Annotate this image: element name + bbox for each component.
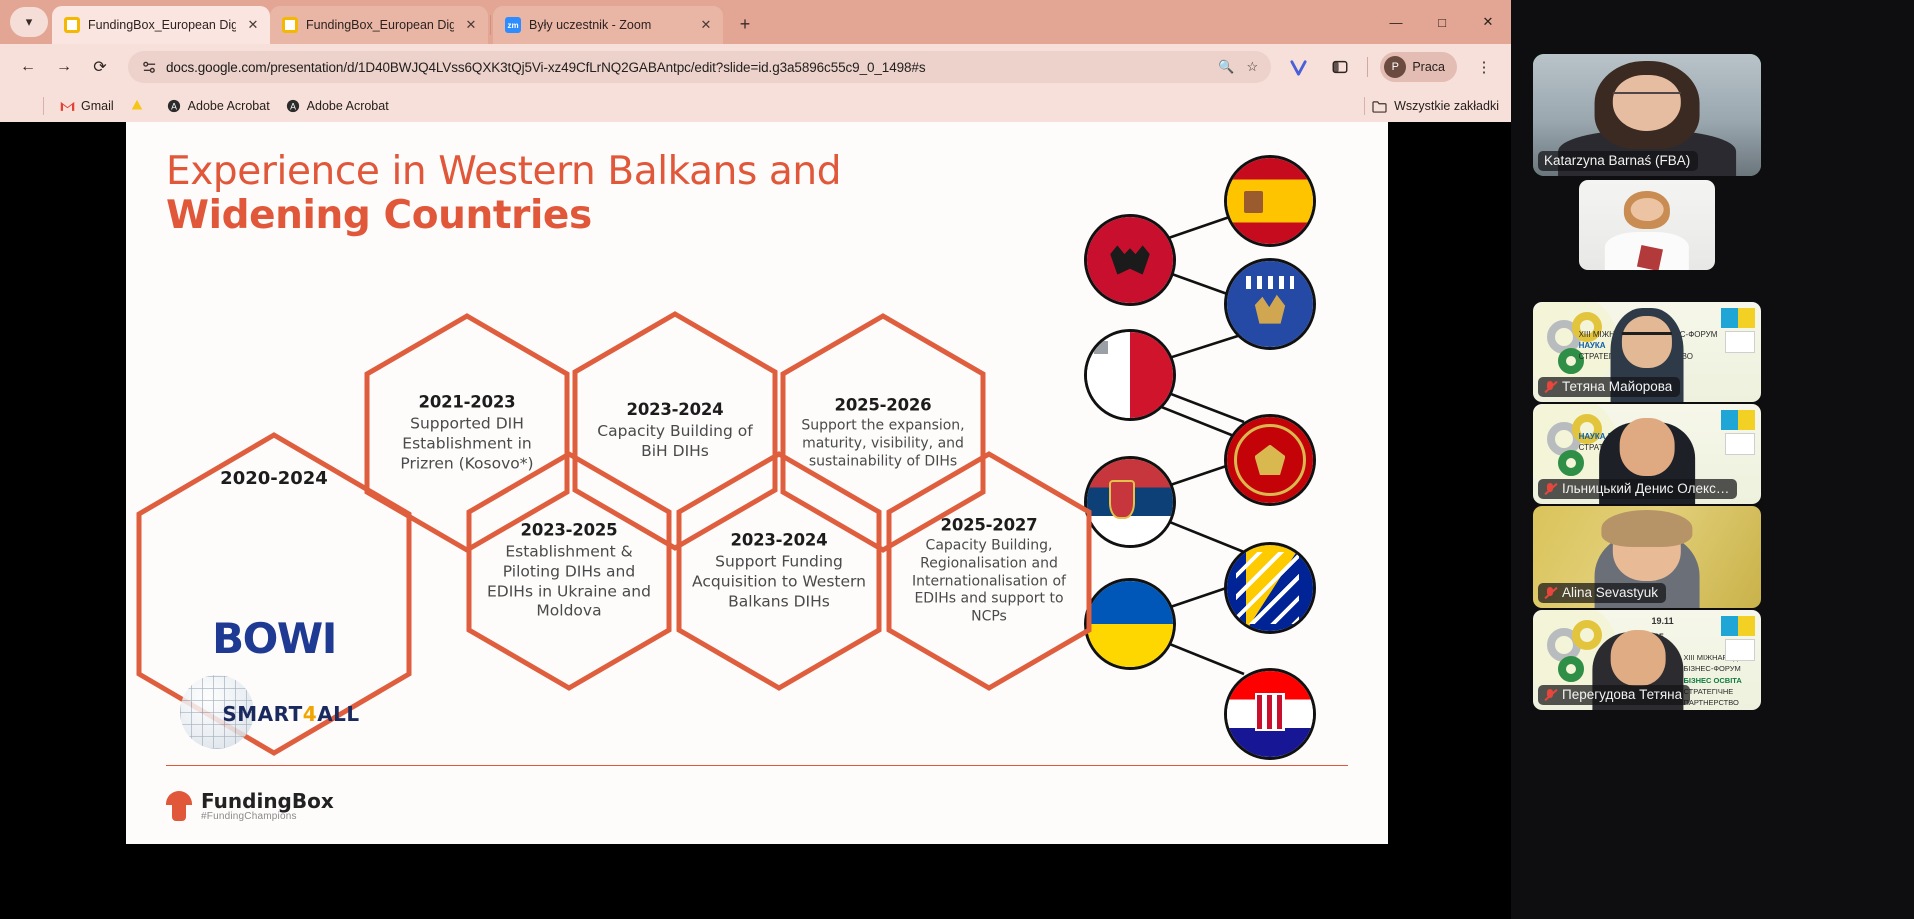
hex-text: 2023-2025 Establishment & Piloting DIHs … <box>481 520 657 621</box>
video-feed <box>1579 180 1715 270</box>
keep-icon <box>130 99 145 114</box>
slides-icon <box>282 17 298 33</box>
participant-name-bar: Ільницький Денис Олекс… <box>1538 479 1737 499</box>
hex-year: 2021-2023 <box>379 392 555 411</box>
participant-name-bar: Katarzyna Barnaś (FBA) <box>1538 151 1698 171</box>
profile-label: Praca <box>1412 60 1445 74</box>
bookmark-star-icon[interactable]: ☆ <box>1243 58 1261 76</box>
participant-tile-5[interactable]: 19.11 25 XIII МІЖНАРОДНИЙ БІЗНЕС-ФОРУМ Б… <box>1533 610 1761 710</box>
close-icon[interactable]: ✕ <box>697 16 715 34</box>
kneu-logo <box>1721 616 1755 661</box>
forward-button[interactable]: → <box>48 51 80 83</box>
brand-name: FundingBox <box>201 791 334 812</box>
toolbar-divider <box>1367 57 1368 77</box>
gmail-icon <box>60 99 75 114</box>
hex-text: 2025-2027 Capacity Building, Regionalisa… <box>901 516 1077 627</box>
flame-icon: 4 <box>303 702 317 726</box>
bookmark-gmail[interactable]: Gmail <box>60 99 114 114</box>
participant-name: Alina Sevastyuk <box>1562 585 1658 600</box>
folder-icon <box>1372 99 1387 114</box>
bowi-logo: BOWI <box>212 614 336 663</box>
participant-name: Перегудова Тетяна <box>1562 687 1682 702</box>
maximize-button[interactable]: □ <box>1419 0 1465 44</box>
hex-body: Establishment & Piloting DIHs and EDIHs … <box>481 542 657 621</box>
extensions-icon[interactable] <box>1325 52 1355 82</box>
reload-button[interactable]: ⟳ <box>84 51 116 83</box>
smart4all-logo-text: SMART4ALL <box>222 702 359 726</box>
zoom-participants-panel: Katarzyna Barnaś (FBA) Наталія Гринчак 1… <box>1511 0 1914 919</box>
tab-1[interactable]: FundingBox_European Digital I ✕ <box>270 6 488 44</box>
search-icon[interactable]: 🔍 <box>1217 58 1235 76</box>
close-window-button[interactable]: ✕ <box>1465 0 1511 44</box>
address-bar[interactable]: docs.google.com/presentation/d/1D40BWJQ4… <box>128 51 1271 83</box>
chrome-menu-icon[interactable]: ⋮ <box>1469 52 1499 82</box>
svg-text:A: A <box>171 102 177 112</box>
bookmark-label: Adobe Acrobat <box>307 99 389 113</box>
tab-title: Były uczestnik - Zoom <box>529 18 689 32</box>
avatar: P <box>1384 56 1406 78</box>
participant-tile-1[interactable]: Наталія Гринчак <box>1579 180 1715 270</box>
url-path: /presentation/d/1D40BWJQ4LVss6QXK3tQj5Vi… <box>267 60 926 75</box>
hex-year: 2025-2026 <box>795 395 971 414</box>
zoom-icon: zm <box>505 17 521 33</box>
hex-year: 2020-2024 <box>220 468 328 489</box>
window-controls: — □ ✕ <box>1373 0 1511 44</box>
participant-name-bar: Тетяна Майорова <box>1538 377 1680 397</box>
divider <box>43 97 44 115</box>
acrobat-icon: A <box>167 99 182 114</box>
bowi-logo-text: BOWI <box>212 614 336 663</box>
fundingbox-mark-icon <box>166 791 192 821</box>
slide-viewport[interactable]: Experience in Western Balkans and Wideni… <box>0 122 1511 919</box>
extension-v-icon[interactable] <box>1283 52 1313 82</box>
participant-tile-0[interactable]: Katarzyna Barnaś (FBA) <box>1533 54 1761 176</box>
bookmark-keep[interactable] <box>130 99 151 114</box>
brand-tagline: #FundingChampions <box>201 812 334 823</box>
hex-year: 2023-2024 <box>587 400 763 419</box>
vbg-date: 19.11 <box>1652 616 1674 626</box>
hex-year: 2025-2027 <box>901 516 1077 535</box>
smart4all-logo: SMART4ALL <box>174 679 374 749</box>
acrobat-icon: A <box>286 99 301 114</box>
hex-2023-2024-wb: 2023-2024 Support Funding Acquisition to… <box>674 450 884 692</box>
screen: ▾ FundingBox_European Digital I ✕ Fundin… <box>0 0 1914 919</box>
all-bookmarks[interactable]: Wszystkie zakładki <box>1364 97 1499 115</box>
bookmark-acrobat-1[interactable]: A Adobe Acrobat <box>167 99 270 114</box>
footer-divider <box>166 765 1348 767</box>
participant-name: Katarzyna Barnaś (FBA) <box>1544 153 1690 168</box>
tab-title: FundingBox_European Digital I <box>88 18 236 32</box>
svg-text:A: A <box>290 102 296 112</box>
back-button[interactable]: ← <box>12 51 44 83</box>
tab-2[interactable]: zm Były uczestnik - Zoom ✕ <box>493 6 723 44</box>
hex-2025-2027: 2025-2027 Capacity Building, Regionalisa… <box>884 450 1094 692</box>
slides-icon <box>64 17 80 33</box>
bookmarks-bar: Gmail A Adobe Acrobat A Adobe Acrobat <box>0 90 1511 122</box>
kneu-logo <box>1721 410 1755 455</box>
hex-year: 2023-2024 <box>691 530 867 549</box>
hex-text: 2023-2024 Support Funding Acquisition to… <box>691 530 867 611</box>
minimize-button[interactable]: — <box>1373 0 1419 44</box>
hex-year: 2023-2025 <box>481 520 657 539</box>
profile-chip[interactable]: P Praca <box>1380 52 1457 82</box>
tab-strip: ▾ FundingBox_European Digital I ✕ Fundin… <box>0 0 1511 44</box>
hexagon-roadmap: 2021-2023 Supported DIH Establishment in… <box>126 122 1388 844</box>
url-text: docs.google.com/presentation/d/1D40BWJQ4… <box>166 60 1209 75</box>
tab-0[interactable]: FundingBox_European Digital I ✕ <box>52 6 270 44</box>
participant-name: Ільницький Денис Олекс… <box>1562 481 1729 496</box>
google-slide: Experience in Western Balkans and Wideni… <box>126 122 1388 844</box>
hex-body: Support Funding Acquisition to Western B… <box>691 552 867 611</box>
close-icon[interactable]: ✕ <box>244 16 262 34</box>
tab-search-chevron-down-icon[interactable]: ▾ <box>10 7 48 37</box>
mute-icon <box>1544 688 1557 702</box>
mute-icon <box>1544 380 1557 394</box>
participant-name-bar: Перегудова Тетяна <box>1538 685 1690 705</box>
browser-toolbar: ← → ⟳ docs.google.com/presentation/d/1D4… <box>0 44 1511 90</box>
toolbar-actions: P Praca ⋮ <box>1283 52 1499 82</box>
participant-tile-3[interactable]: НАУКА БІЗНЕС ОСВІТА СТРАТЕГІЧНЕ ПАРТНЕРС… <box>1533 404 1761 504</box>
participant-tile-4[interactable]: Alina Sevastyuk <box>1533 506 1761 608</box>
smart-left: SMART <box>222 702 302 726</box>
smart-right: ALL <box>317 702 359 726</box>
bookmark-label: Gmail <box>81 99 114 113</box>
apps-grid-icon[interactable] <box>12 99 27 114</box>
close-icon[interactable]: ✕ <box>462 16 480 34</box>
mute-icon <box>1544 482 1557 496</box>
hex-body: Capacity Building, Regionalisation and I… <box>901 538 1077 627</box>
participant-name-bar: Alina Sevastyuk <box>1538 583 1666 603</box>
bookmark-label: Adobe Acrobat <box>188 99 270 113</box>
fundingbox-logo: FundingBox #FundingChampions <box>166 791 334 823</box>
new-tab-button[interactable]: + <box>731 10 759 38</box>
kneu-logo <box>1721 308 1755 353</box>
hex-2023-2025: 2023-2025 Establishment & Piloting DIHs … <box>464 450 674 692</box>
tab-title: FundingBox_European Digital I <box>306 18 454 32</box>
participant-name: Тетяна Майорова <box>1562 379 1672 394</box>
mute-icon <box>1544 586 1557 600</box>
hex-2020-2024: 2020-2024 BOWI SMART4ALL <box>132 430 416 758</box>
page-settings-icon[interactable] <box>140 58 158 76</box>
url-host: docs.google.com <box>166 60 267 75</box>
all-bookmarks-label: Wszystkie zakładki <box>1394 99 1499 113</box>
participant-tile-2[interactable]: 19.11 XIII МІЖНАРОДНИЙ БІЗНЕС-ФОРУМ НАУК… <box>1533 302 1761 402</box>
divider <box>1364 97 1365 115</box>
tab-divider <box>490 15 491 35</box>
browser-window: ▾ FundingBox_European Digital I ✕ Fundin… <box>0 0 1511 919</box>
bookmark-acrobat-2[interactable]: A Adobe Acrobat <box>286 99 389 114</box>
